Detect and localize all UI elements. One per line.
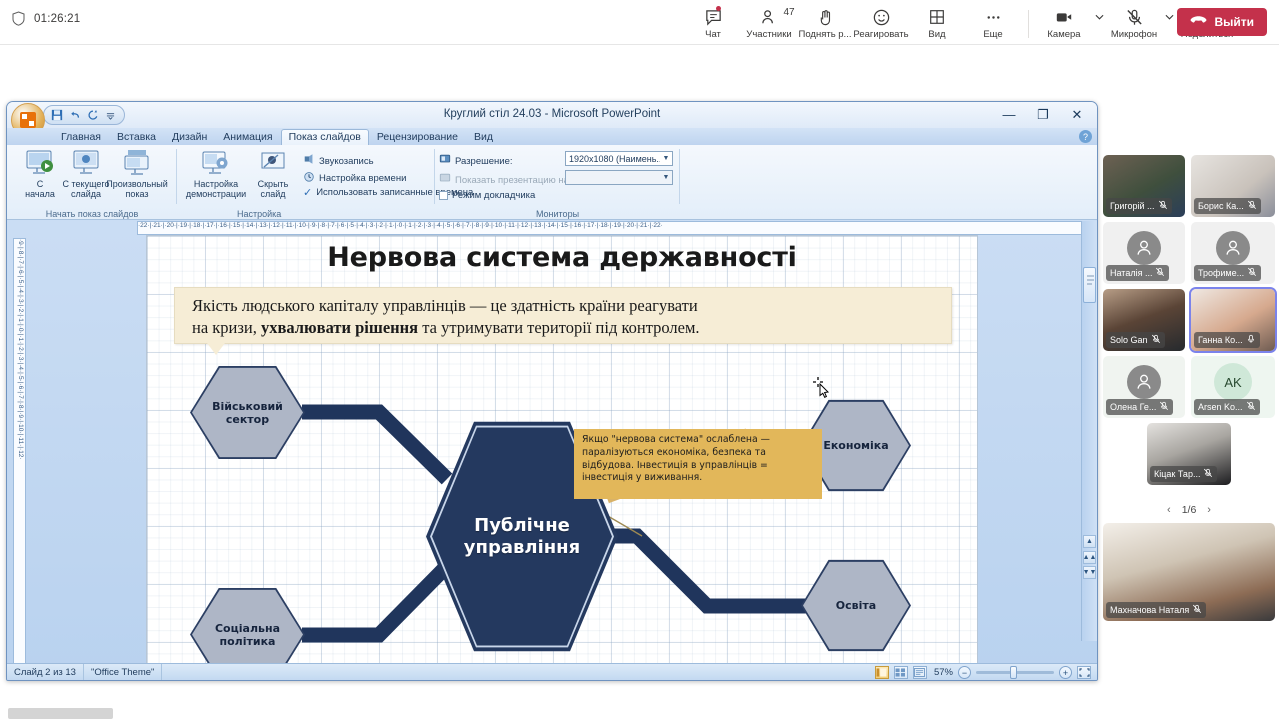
resolution-icon (439, 152, 451, 170)
from-beginning-label: Сначала (25, 179, 55, 199)
slide-vertical-scrollbar[interactable]: ▲ ▲▲ ▼▼ (1081, 221, 1097, 641)
avatar-initials: AK (1214, 363, 1252, 401)
node-education-fill: Освіта (803, 560, 909, 651)
chevron-down-icon: ▼ (660, 155, 672, 162)
node-military-fill: Військовийсектор (192, 366, 303, 459)
zoom-in-button[interactable]: + (1059, 666, 1072, 679)
participant-name-badge: Наталія ... (1106, 265, 1169, 281)
leave-label: Выйти (1214, 15, 1254, 29)
more-label: Еще (983, 29, 1002, 40)
hide-slide-label: Скрытьслайд (258, 179, 289, 199)
node-education[interactable]: Освіта (801, 558, 911, 653)
reactions-label: Реагировать (853, 29, 908, 40)
camera-label: Камера (1047, 29, 1080, 40)
next-slide-button[interactable]: ▼▼ (1083, 566, 1096, 579)
participant-name: Кіцак Тар... (1154, 469, 1200, 479)
participant-name: Олена Ге... (1110, 402, 1156, 412)
customize-qat-icon[interactable] (103, 108, 118, 123)
participant-name-badge: Кіцак Тар... (1150, 466, 1217, 482)
participant-name: Борис Ка... (1198, 201, 1244, 211)
checkbox-icon (439, 191, 448, 200)
chat-button[interactable]: Чат (685, 4, 741, 40)
slide-editing-area: Нервова система державності Якість людсь… (41, 221, 1089, 641)
mic-muted-icon (1246, 398, 1256, 416)
checkmark-icon: ✓ (303, 186, 312, 199)
microphone-chevron-down-icon[interactable] (1162, 4, 1176, 20)
group-divider (679, 149, 680, 204)
ribbon-group-monitors: Разрешение: 1920x1080 (Наимень... ▼ Пока… (435, 145, 680, 220)
scroll-up-button[interactable]: ▲ (1083, 535, 1096, 548)
help-icon[interactable]: ? (1079, 130, 1092, 143)
participant-pager: ‹ 1/6 › (1103, 500, 1275, 520)
tab-home[interactable]: Главная (53, 130, 109, 145)
leave-call-button[interactable]: Выйти (1177, 8, 1267, 36)
node-economy-label: Економіка (823, 439, 888, 452)
participant-tile-4[interactable]: Solo Gan (1103, 289, 1185, 351)
participant-tile-5[interactable]: Ганна Ко... (1191, 289, 1275, 351)
record-narration-label: Звукозапись (319, 156, 374, 167)
pager-label: 1/6 (1182, 504, 1197, 516)
raise-hand-button[interactable]: Поднять р... (797, 4, 853, 40)
camera-chevron-down-icon[interactable] (1092, 4, 1106, 20)
resolution-row: Разрешение: (439, 152, 513, 170)
zoom-level: 57% (934, 667, 953, 678)
teams-meeting-toolbar: 01:26:21 Чат 47 Участники Поднять р... (0, 0, 1279, 45)
mic-muted-icon (1155, 264, 1165, 282)
toolbar-divider (1028, 10, 1029, 38)
shield-icon (12, 11, 25, 26)
participant-tile-2[interactable]: Наталія ... (1103, 222, 1185, 284)
hide-slide-button[interactable]: Скрытьслайд (249, 148, 297, 199)
participant-name-badge: Борис Ка... (1194, 198, 1261, 214)
chat-icon (704, 7, 723, 27)
from-beginning-icon (23, 148, 57, 178)
spotlight-name: Махначова Наталя (1110, 605, 1189, 615)
mic-muted-icon (1192, 601, 1202, 619)
quick-access-toolbar (43, 105, 125, 125)
ribbon-tabs: Главная Вставка Дизайн Анимация Показ сл… (7, 128, 1097, 145)
setup-show-icon (199, 148, 233, 178)
show-presentation-on-row: Показать презентацию на: (439, 171, 572, 189)
participant-tile-0[interactable]: Григорій ... (1103, 155, 1185, 217)
participant-name-badge: Solo Gan (1106, 332, 1165, 348)
powerpoint-window-title: Круглий стіл 24.03 - Microsoft PowerPoin… (7, 108, 1097, 120)
call-timer: 01:26:21 (34, 13, 80, 25)
participant-rail: Григорій ... Борис Ка... Наталія ... (1103, 155, 1275, 635)
powerpoint-status-bar: Слайд 2 из 13 "Office Theme" 57% − + (7, 663, 1097, 680)
tab-design[interactable]: Дизайн (164, 130, 215, 145)
participant-name: Ганна Ко... (1198, 335, 1243, 345)
mic-muted-icon (1159, 398, 1169, 416)
reading-view-icon[interactable] (913, 666, 927, 679)
close-button[interactable]: ✕ (1061, 104, 1093, 125)
participant-name-badge: Трофиме... (1194, 265, 1261, 281)
theme-status: "Office Theme" (84, 664, 162, 681)
resolution-combobox[interactable]: 1920x1080 (Наимень... ▼ (565, 151, 673, 166)
participant-name: Трофиме... (1198, 268, 1244, 278)
node-education-label: Освіта (836, 599, 876, 612)
pager-prev-button[interactable]: ‹ (1167, 504, 1171, 516)
node-social-label: Соціальнаполітика (215, 622, 280, 648)
more-ellipsis-icon (984, 7, 1003, 27)
tab-animation[interactable]: Анимация (215, 130, 280, 145)
microphone-label: Микрофон (1111, 29, 1157, 40)
mic-muted-icon (1247, 197, 1257, 215)
redo-icon[interactable] (85, 108, 100, 123)
rehearse-timings-label: Настройка времени (319, 173, 406, 184)
minimize-button[interactable]: — (993, 104, 1025, 125)
participant-tile-7[interactable]: AK Arsen Ko... (1191, 356, 1275, 418)
node-military[interactable]: Військовийсектор (190, 364, 305, 461)
group-label-setup: Настройка (237, 209, 281, 219)
scrollbar-thumb[interactable] (1083, 267, 1096, 303)
participant-name-badge: Arsen Ko... (1194, 399, 1260, 415)
chat-unread-badge (716, 6, 721, 11)
group-label-start-slideshow: Начать показ слайдов (7, 209, 177, 219)
status-right-controls: 57% − + (875, 664, 1091, 681)
participant-tile-6[interactable]: Олена Ге... (1103, 356, 1185, 418)
participant-name-badge: Ганна Ко... (1194, 332, 1260, 348)
mic-muted-icon (1151, 331, 1161, 349)
node-center-label: Публічнеуправління (464, 515, 580, 559)
callout-box[interactable]: Якщо "нервова система" ослаблена — парал… (574, 429, 822, 499)
previous-slide-button[interactable]: ▲▲ (1083, 551, 1096, 564)
resolution-value: 1920x1080 (Наимень... (569, 154, 660, 164)
view-button[interactable]: Вид (909, 4, 965, 40)
tab-insert[interactable]: Вставка (109, 130, 164, 145)
ribbon: Сначала С текущегослайда Произвольныйпок… (7, 145, 1097, 220)
raise-hand-label: Поднять р... (799, 29, 852, 40)
powerpoint-window: Круглий стіл 24.03 - Microsoft PowerPoin… (6, 101, 1098, 681)
spotlight-name-badge: Махначова Наталя (1106, 602, 1206, 618)
tab-view[interactable]: Вид (466, 130, 501, 145)
mic-muted-icon (1158, 197, 1168, 215)
vertical-ruler-ticks: ·9·|·8·|·7·|·6·|·5·|·4·|·3·|·2·|·1·|·0·|… (14, 239, 26, 460)
restore-button[interactable]: ❐ (1027, 104, 1059, 125)
reactions-icon (872, 7, 891, 27)
normal-view-icon[interactable] (875, 666, 889, 679)
chevron-down-icon: ▼ (660, 174, 672, 181)
participant-name-badge: Григорій ... (1106, 198, 1172, 214)
custom-slideshow-button[interactable]: Произвольныйпоказ (101, 148, 173, 199)
avatar (1127, 365, 1161, 399)
show-presentation-on-label: Показать презентацию на: (455, 175, 572, 186)
ribbon-group-start-slideshow: Сначала С текущегослайда Произвольныйпок… (7, 145, 177, 220)
slide-canvas[interactable]: Нервова система державності Якість людсь… (146, 235, 978, 681)
presenter-view-label: Режим докладчика (452, 190, 535, 201)
hide-slide-icon (256, 148, 290, 178)
tab-review[interactable]: Рецензирование (369, 130, 466, 145)
custom-show-icon (120, 148, 154, 178)
participant-tile-1[interactable]: Борис Ка... (1191, 155, 1275, 217)
record-narration-item[interactable]: Звукозапись (303, 152, 374, 170)
participant-name: Григорій ... (1110, 201, 1155, 211)
window-controls: — ❐ ✕ (993, 104, 1093, 125)
more-button[interactable]: Еще (965, 4, 1021, 40)
node-military-label: Військовийсектор (212, 400, 283, 426)
avatar (1127, 231, 1161, 265)
view-label: Вид (928, 29, 945, 40)
tab-slideshow[interactable]: Показ слайдов (281, 129, 369, 145)
participant-tile-3[interactable]: Трофиме... (1191, 222, 1275, 284)
record-narration-icon (303, 152, 315, 170)
from-current-slide-icon (69, 148, 103, 178)
slide-number-status: Слайд 2 из 13 (7, 664, 84, 681)
reactions-button[interactable]: Реагировать (853, 4, 909, 40)
raise-hand-icon (816, 7, 835, 27)
rehearse-timings-item[interactable]: Настройка времени (303, 169, 406, 187)
save-icon[interactable] (49, 108, 64, 123)
mouse-cursor (812, 376, 830, 398)
vertical-ruler: ·9·|·8·|·7·|·6·|·5·|·4·|·3·|·2·|·1·|·0·|… (13, 238, 26, 681)
camera-button[interactable]: Камера (1036, 4, 1092, 40)
pager-next-button[interactable]: › (1207, 504, 1211, 516)
resolution-label: Разрешение: (455, 156, 513, 167)
microphone-button[interactable]: Микрофон (1106, 4, 1162, 40)
view-grid-icon (928, 7, 946, 27)
fit-slide-icon[interactable] (1077, 666, 1091, 679)
avatar (1216, 231, 1250, 265)
microphone-muted-icon (1125, 7, 1144, 27)
zoom-slider-thumb[interactable] (1010, 666, 1017, 679)
callout-line-1: Якщо "нервова система" ослаблена — (582, 434, 770, 445)
people-icon: 47 (760, 7, 779, 27)
rehearse-timings-icon (303, 169, 315, 187)
hangup-icon (1190, 13, 1207, 31)
zoom-slider[interactable] (976, 671, 1054, 674)
participant-name: Наталія ... (1110, 268, 1152, 278)
setup-show-label: Настройкадемонстрации (186, 179, 246, 199)
powerpoint-title-bar: Круглий стіл 24.03 - Microsoft PowerPoin… (7, 102, 1097, 128)
zoom-out-button[interactable]: − (958, 666, 971, 679)
camera-icon (1054, 7, 1074, 27)
callout-line-2: паралізуються економіка, безпека та (582, 447, 766, 458)
callout-line-4: інвестиція у виживання. (582, 472, 702, 483)
monitor-icon (439, 171, 451, 189)
participant-name-badge: Олена Ге... (1106, 399, 1173, 415)
meeting-status-group: 01:26:21 (12, 11, 80, 26)
setup-show-button[interactable]: Настройкадемонстрации (183, 148, 249, 199)
participants-button[interactable]: 47 Участники (741, 4, 797, 40)
participants-label: Участники (746, 29, 791, 40)
show-presentation-on-combobox[interactable]: ▼ (565, 170, 673, 185)
mic-muted-icon (1246, 331, 1256, 349)
chat-label: Чат (705, 29, 721, 40)
presenter-view-checkbox[interactable]: Режим докладчика (439, 190, 535, 201)
undo-icon[interactable] (67, 108, 82, 123)
spotlight-participant-tile[interactable]: Махначова Наталя (1103, 523, 1275, 621)
group-label-monitors: Мониторы (435, 209, 680, 219)
taskbar-item[interactable] (8, 708, 113, 719)
slide-sorter-icon[interactable] (894, 666, 908, 679)
custom-show-label: Произвольныйпоказ (106, 179, 168, 199)
participant-tile-8[interactable]: Кіцак Тар... (1147, 423, 1231, 485)
callout-text: Якщо "нервова система" ослаблена — парал… (582, 434, 816, 485)
ribbon-group-setup: Настройкадемонстрации Скрытьслайд Звукоз… (177, 145, 435, 220)
mic-muted-icon (1247, 264, 1257, 282)
mic-muted-icon (1203, 465, 1213, 483)
teams-controls: Чат 47 Участники Поднять р... Реагироват… (685, 4, 1238, 40)
participants-count: 47 (784, 7, 795, 18)
participant-name: Arsen Ko... (1198, 402, 1243, 412)
callout-line-3: відбудова. Інвестиція в управлінців = (582, 460, 768, 471)
participant-name: Solo Gan (1110, 335, 1148, 345)
